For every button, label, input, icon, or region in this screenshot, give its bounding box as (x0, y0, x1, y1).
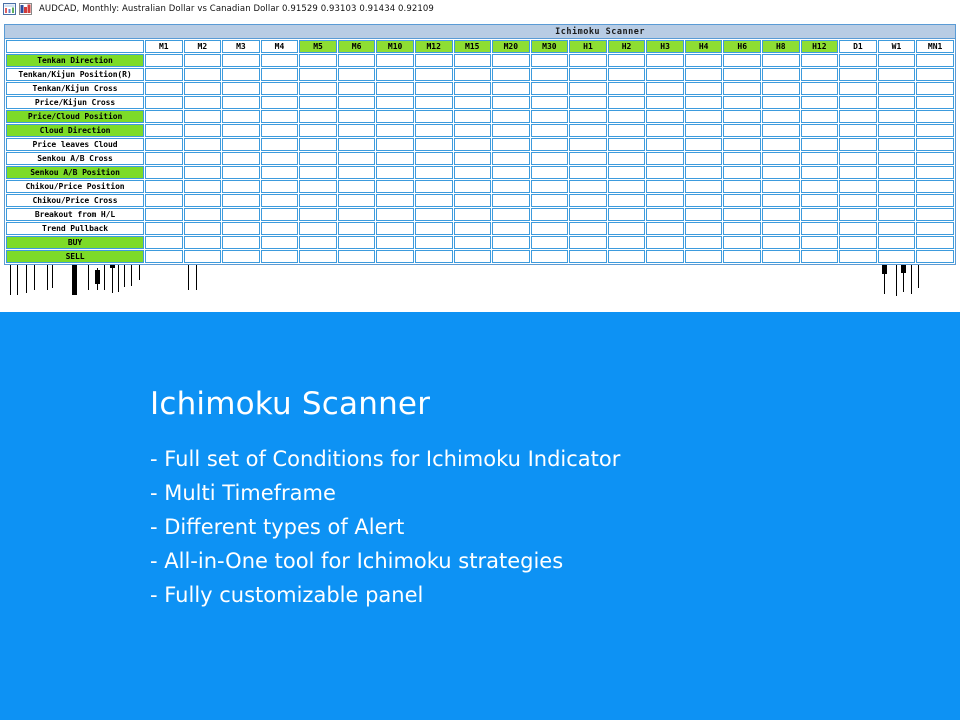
signal-cell[interactable] (801, 194, 839, 207)
signal-cell[interactable] (454, 222, 492, 235)
timeframe-header-m3[interactable]: M3 (222, 40, 260, 53)
signal-cell[interactable] (569, 54, 607, 67)
signal-cell[interactable] (646, 166, 684, 179)
signal-cell[interactable] (531, 208, 569, 221)
signal-cell[interactable] (646, 152, 684, 165)
signal-cell[interactable] (723, 250, 761, 263)
signal-cell[interactable] (261, 152, 299, 165)
row-label-price-cloud-position[interactable]: Price/Cloud Position (6, 110, 144, 123)
signal-cell[interactable] (685, 96, 723, 109)
signal-cell[interactable] (801, 68, 839, 81)
signal-cell[interactable] (415, 250, 453, 263)
signal-cell[interactable] (184, 208, 222, 221)
signal-cell[interactable] (415, 222, 453, 235)
signal-cell[interactable] (762, 180, 800, 193)
signal-cell[interactable] (801, 236, 839, 249)
signal-cell[interactable] (878, 68, 916, 81)
signal-cell[interactable] (222, 222, 260, 235)
signal-cell[interactable] (261, 222, 299, 235)
signal-cell[interactable] (916, 54, 954, 67)
signal-cell[interactable] (878, 152, 916, 165)
signal-cell[interactable] (415, 194, 453, 207)
signal-cell[interactable] (222, 54, 260, 67)
row-label-breakout-from-h-l[interactable]: Breakout from H/L (6, 208, 144, 221)
signal-cell[interactable] (723, 110, 761, 123)
signal-cell[interactable] (454, 250, 492, 263)
signal-cell[interactable] (299, 68, 337, 81)
signal-cell[interactable] (762, 110, 800, 123)
row-label-trend-pullback[interactable]: Trend Pullback (6, 222, 144, 235)
signal-cell[interactable] (801, 166, 839, 179)
signal-cell[interactable] (608, 222, 646, 235)
signal-cell[interactable] (145, 236, 183, 249)
signal-cell[interactable] (762, 82, 800, 95)
timeframe-header-m1[interactable]: M1 (145, 40, 183, 53)
signal-cell[interactable] (376, 138, 414, 151)
signal-cell[interactable] (376, 96, 414, 109)
signal-cell[interactable] (261, 250, 299, 263)
signal-cell[interactable] (454, 68, 492, 81)
timeframe-header-w1[interactable]: W1 (878, 40, 916, 53)
signal-cell[interactable] (376, 110, 414, 123)
signal-cell[interactable] (646, 250, 684, 263)
signal-cell[interactable] (299, 250, 337, 263)
signal-cell[interactable] (184, 124, 222, 137)
signal-cell[interactable] (145, 82, 183, 95)
signal-cell[interactable] (338, 54, 376, 67)
timeframe-header-h1[interactable]: H1 (569, 40, 607, 53)
signal-cell[interactable] (454, 180, 492, 193)
signal-cell[interactable] (685, 236, 723, 249)
signal-cell[interactable] (261, 166, 299, 179)
signal-cell[interactable] (878, 82, 916, 95)
signal-cell[interactable] (762, 208, 800, 221)
signal-cell[interactable] (916, 180, 954, 193)
signal-cell[interactable] (646, 82, 684, 95)
signal-cell[interactable] (762, 222, 800, 235)
signal-cell[interactable] (801, 82, 839, 95)
row-label-chikou-price-position[interactable]: Chikou/Price Position (6, 180, 144, 193)
signal-cell[interactable] (222, 166, 260, 179)
signal-cell[interactable] (878, 138, 916, 151)
signal-cell[interactable] (261, 82, 299, 95)
signal-cell[interactable] (145, 166, 183, 179)
signal-cell[interactable] (338, 110, 376, 123)
row-label-tenkan-kijun-position-r[interactable]: Tenkan/Kijun Position(R) (6, 68, 144, 81)
signal-cell[interactable] (338, 194, 376, 207)
signal-cell[interactable] (454, 236, 492, 249)
timeframe-header-m5[interactable]: M5 (299, 40, 337, 53)
signal-cell[interactable] (454, 110, 492, 123)
signal-cell[interactable] (839, 166, 877, 179)
signal-cell[interactable] (608, 194, 646, 207)
signal-cell[interactable] (608, 152, 646, 165)
signal-cell[interactable] (569, 124, 607, 137)
signal-cell[interactable] (184, 250, 222, 263)
signal-cell[interactable] (839, 54, 877, 67)
signal-cell[interactable] (492, 194, 530, 207)
signal-cell[interactable] (376, 166, 414, 179)
signal-cell[interactable] (839, 194, 877, 207)
signal-cell[interactable] (492, 222, 530, 235)
signal-cell[interactable] (801, 96, 839, 109)
signal-cell[interactable] (415, 208, 453, 221)
timeframe-header-mn1[interactable]: MN1 (916, 40, 954, 53)
timeframe-header-m4[interactable]: M4 (261, 40, 299, 53)
signal-cell[interactable] (916, 110, 954, 123)
signal-cell[interactable] (762, 124, 800, 137)
signal-cell[interactable] (646, 96, 684, 109)
signal-cell[interactable] (415, 54, 453, 67)
signal-cell[interactable] (801, 250, 839, 263)
signal-cell[interactable] (376, 54, 414, 67)
signal-cell[interactable] (222, 250, 260, 263)
signal-cell[interactable] (569, 138, 607, 151)
signal-cell[interactable] (531, 180, 569, 193)
signal-cell[interactable] (376, 236, 414, 249)
signal-cell[interactable] (839, 236, 877, 249)
signal-cell[interactable] (839, 138, 877, 151)
signal-cell[interactable] (916, 194, 954, 207)
signal-cell[interactable] (762, 194, 800, 207)
signal-cell[interactable] (222, 68, 260, 81)
signal-cell[interactable] (608, 54, 646, 67)
signal-cell[interactable] (222, 194, 260, 207)
signal-cell[interactable] (723, 152, 761, 165)
signal-cell[interactable] (839, 180, 877, 193)
signal-cell[interactable] (492, 166, 530, 179)
signal-cell[interactable] (184, 54, 222, 67)
signal-cell[interactable] (608, 110, 646, 123)
timeframe-header-m12[interactable]: M12 (415, 40, 453, 53)
signal-cell[interactable] (531, 124, 569, 137)
signal-cell[interactable] (492, 96, 530, 109)
signal-cell[interactable] (685, 222, 723, 235)
signal-cell[interactable] (415, 96, 453, 109)
signal-cell[interactable] (531, 222, 569, 235)
signal-cell[interactable] (608, 166, 646, 179)
signal-cell[interactable] (685, 194, 723, 207)
signal-cell[interactable] (646, 194, 684, 207)
signal-cell[interactable] (531, 54, 569, 67)
signal-cell[interactable] (299, 208, 337, 221)
signal-cell[interactable] (376, 180, 414, 193)
signal-cell[interactable] (376, 208, 414, 221)
signal-cell[interactable] (685, 180, 723, 193)
signal-cell[interactable] (762, 96, 800, 109)
row-label-sell[interactable]: SELL (6, 250, 144, 263)
signal-cell[interactable] (608, 180, 646, 193)
signal-cell[interactable] (415, 82, 453, 95)
signal-cell[interactable] (338, 138, 376, 151)
signal-cell[interactable] (338, 166, 376, 179)
signal-cell[interactable] (878, 222, 916, 235)
signal-cell[interactable] (415, 68, 453, 81)
signal-cell[interactable] (916, 236, 954, 249)
signal-cell[interactable] (222, 180, 260, 193)
signal-cell[interactable] (685, 68, 723, 81)
signal-cell[interactable] (569, 96, 607, 109)
signal-cell[interactable] (184, 138, 222, 151)
signal-cell[interactable] (299, 138, 337, 151)
signal-cell[interactable] (916, 208, 954, 221)
signal-cell[interactable] (415, 236, 453, 249)
signal-cell[interactable] (723, 208, 761, 221)
signal-cell[interactable] (723, 124, 761, 137)
signal-cell[interactable] (184, 68, 222, 81)
signal-cell[interactable] (222, 138, 260, 151)
signal-cell[interactable] (878, 124, 916, 137)
signal-cell[interactable] (878, 110, 916, 123)
signal-cell[interactable] (531, 96, 569, 109)
signal-cell[interactable] (723, 96, 761, 109)
signal-cell[interactable] (222, 124, 260, 137)
signal-cell[interactable] (338, 96, 376, 109)
signal-cell[interactable] (531, 138, 569, 151)
signal-cell[interactable] (222, 96, 260, 109)
signal-cell[interactable] (184, 152, 222, 165)
signal-cell[interactable] (415, 138, 453, 151)
signal-cell[interactable] (376, 222, 414, 235)
signal-cell[interactable] (261, 138, 299, 151)
signal-cell[interactable] (261, 96, 299, 109)
timeframe-header-m6[interactable]: M6 (338, 40, 376, 53)
signal-cell[interactable] (145, 250, 183, 263)
signal-cell[interactable] (801, 180, 839, 193)
signal-cell[interactable] (723, 194, 761, 207)
signal-cell[interactable] (338, 222, 376, 235)
signal-cell[interactable] (376, 68, 414, 81)
signal-cell[interactable] (145, 138, 183, 151)
signal-cell[interactable] (454, 54, 492, 67)
timeframe-header-h12[interactable]: H12 (801, 40, 839, 53)
row-label-cloud-direction[interactable]: Cloud Direction (6, 124, 144, 137)
signal-cell[interactable] (878, 236, 916, 249)
signal-cell[interactable] (531, 194, 569, 207)
timeframe-header-h3[interactable]: H3 (646, 40, 684, 53)
signal-cell[interactable] (338, 250, 376, 263)
signal-cell[interactable] (685, 152, 723, 165)
ichimoku-scanner-panel[interactable]: Ichimoku Scanner M1M2M3M4M5M6M10M12M15M2… (4, 24, 956, 265)
signal-cell[interactable] (569, 194, 607, 207)
signal-cell[interactable] (492, 82, 530, 95)
timeframe-header-m10[interactable]: M10 (376, 40, 414, 53)
signal-cell[interactable] (145, 180, 183, 193)
signal-cell[interactable] (916, 250, 954, 263)
signal-cell[interactable] (762, 152, 800, 165)
signal-cell[interactable] (184, 110, 222, 123)
signal-cell[interactable] (145, 208, 183, 221)
signal-cell[interactable] (415, 166, 453, 179)
signal-cell[interactable] (839, 124, 877, 137)
signal-cell[interactable] (569, 110, 607, 123)
signal-cell[interactable] (646, 110, 684, 123)
signal-cell[interactable] (608, 124, 646, 137)
signal-cell[interactable] (184, 180, 222, 193)
signal-cell[interactable] (222, 82, 260, 95)
signal-cell[interactable] (646, 68, 684, 81)
signal-cell[interactable] (839, 110, 877, 123)
signal-cell[interactable] (415, 180, 453, 193)
signal-cell[interactable] (723, 166, 761, 179)
signal-cell[interactable] (454, 208, 492, 221)
row-label-senkou-a-b-cross[interactable]: Senkou A/B Cross (6, 152, 144, 165)
timeframe-header-m20[interactable]: M20 (492, 40, 530, 53)
signal-cell[interactable] (299, 96, 337, 109)
signal-cell[interactable] (222, 110, 260, 123)
signal-cell[interactable] (762, 250, 800, 263)
signal-cell[interactable] (261, 194, 299, 207)
timeframe-header-d1[interactable]: D1 (839, 40, 877, 53)
signal-cell[interactable] (685, 166, 723, 179)
signal-cell[interactable] (492, 124, 530, 137)
signal-cell[interactable] (646, 54, 684, 67)
signal-cell[interactable] (569, 208, 607, 221)
signal-cell[interactable] (492, 236, 530, 249)
signal-cell[interactable] (145, 152, 183, 165)
signal-cell[interactable] (878, 54, 916, 67)
signal-cell[interactable] (492, 110, 530, 123)
signal-cell[interactable] (646, 138, 684, 151)
signal-cell[interactable] (801, 152, 839, 165)
signal-cell[interactable] (685, 54, 723, 67)
signal-cell[interactable] (261, 208, 299, 221)
scanner-table[interactable]: M1M2M3M4M5M6M10M12M15M20M30H1H2H3H4H6H8H… (5, 39, 955, 264)
signal-cell[interactable] (492, 68, 530, 81)
signal-cell[interactable] (376, 124, 414, 137)
signal-cell[interactable] (723, 54, 761, 67)
signal-cell[interactable] (261, 236, 299, 249)
signal-cell[interactable] (723, 180, 761, 193)
signal-cell[interactable] (454, 96, 492, 109)
signal-cell[interactable] (801, 222, 839, 235)
signal-cell[interactable] (685, 124, 723, 137)
signal-cell[interactable] (646, 124, 684, 137)
signal-cell[interactable] (531, 82, 569, 95)
signal-cell[interactable] (723, 236, 761, 249)
signal-cell[interactable] (646, 208, 684, 221)
signal-cell[interactable] (878, 180, 916, 193)
signal-cell[interactable] (299, 222, 337, 235)
signal-cell[interactable] (646, 222, 684, 235)
signal-cell[interactable] (338, 180, 376, 193)
signal-cell[interactable] (646, 236, 684, 249)
signal-cell[interactable] (454, 82, 492, 95)
signal-cell[interactable] (145, 194, 183, 207)
signal-cell[interactable] (878, 250, 916, 263)
signal-cell[interactable] (569, 166, 607, 179)
timeframe-header-h4[interactable]: H4 (685, 40, 723, 53)
signal-cell[interactable] (878, 96, 916, 109)
row-label-chikou-price-cross[interactable]: Chikou/Price Cross (6, 194, 144, 207)
signal-cell[interactable] (299, 152, 337, 165)
signal-cell[interactable] (878, 208, 916, 221)
signal-cell[interactable] (839, 152, 877, 165)
signal-cell[interactable] (916, 222, 954, 235)
signal-cell[interactable] (299, 194, 337, 207)
signal-cell[interactable] (222, 152, 260, 165)
signal-cell[interactable] (222, 208, 260, 221)
signal-cell[interactable] (531, 110, 569, 123)
signal-cell[interactable] (878, 194, 916, 207)
signal-cell[interactable] (723, 222, 761, 235)
signal-cell[interactable] (801, 124, 839, 137)
signal-cell[interactable] (569, 82, 607, 95)
signal-cell[interactable] (723, 138, 761, 151)
signal-cell[interactable] (801, 208, 839, 221)
signal-cell[interactable] (492, 54, 530, 67)
signal-cell[interactable] (801, 110, 839, 123)
signal-cell[interactable] (415, 110, 453, 123)
signal-cell[interactable] (801, 54, 839, 67)
row-label-price-kijun-cross[interactable]: Price/Kijun Cross (6, 96, 144, 109)
signal-cell[interactable] (801, 138, 839, 151)
signal-cell[interactable] (299, 124, 337, 137)
timeframe-header-m15[interactable]: M15 (454, 40, 492, 53)
signal-cell[interactable] (454, 138, 492, 151)
signal-cell[interactable] (492, 138, 530, 151)
signal-cell[interactable] (184, 222, 222, 235)
signal-cell[interactable] (299, 54, 337, 67)
signal-cell[interactable] (569, 250, 607, 263)
signal-cell[interactable] (569, 68, 607, 81)
signal-cell[interactable] (184, 166, 222, 179)
signal-cell[interactable] (685, 208, 723, 221)
signal-cell[interactable] (492, 208, 530, 221)
signal-cell[interactable] (916, 82, 954, 95)
signal-cell[interactable] (338, 124, 376, 137)
signal-cell[interactable] (261, 68, 299, 81)
signal-cell[interactable] (916, 152, 954, 165)
signal-cell[interactable] (299, 180, 337, 193)
signal-cell[interactable] (492, 180, 530, 193)
signal-cell[interactable] (338, 208, 376, 221)
row-label-price-leaves-cloud[interactable]: Price leaves Cloud (6, 138, 144, 151)
signal-cell[interactable] (145, 68, 183, 81)
signal-cell[interactable] (492, 152, 530, 165)
signal-cell[interactable] (685, 110, 723, 123)
signal-cell[interactable] (338, 236, 376, 249)
signal-cell[interactable] (454, 152, 492, 165)
signal-cell[interactable] (415, 124, 453, 137)
signal-cell[interactable] (916, 96, 954, 109)
signal-cell[interactable] (685, 138, 723, 151)
signal-cell[interactable] (145, 124, 183, 137)
signal-cell[interactable] (839, 208, 877, 221)
signal-cell[interactable] (299, 166, 337, 179)
signal-cell[interactable] (145, 96, 183, 109)
signal-cell[interactable] (531, 166, 569, 179)
scanner-table-body[interactable]: Tenkan DirectionTenkan/Kijun Position(R)… (6, 54, 954, 263)
signal-cell[interactable] (376, 82, 414, 95)
signal-cell[interactable] (608, 208, 646, 221)
signal-cell[interactable] (569, 180, 607, 193)
signal-cell[interactable] (916, 68, 954, 81)
timeframe-header-h8[interactable]: H8 (762, 40, 800, 53)
signal-cell[interactable] (184, 236, 222, 249)
signal-cell[interactable] (569, 152, 607, 165)
signal-cell[interactable] (261, 180, 299, 193)
signal-cell[interactable] (608, 96, 646, 109)
timeframe-header-m30[interactable]: M30 (531, 40, 569, 53)
signal-cell[interactable] (145, 54, 183, 67)
signal-cell[interactable] (222, 236, 260, 249)
signal-cell[interactable] (916, 138, 954, 151)
signal-cell[interactable] (454, 194, 492, 207)
signal-cell[interactable] (646, 180, 684, 193)
signal-cell[interactable] (376, 194, 414, 207)
signal-cell[interactable] (608, 250, 646, 263)
